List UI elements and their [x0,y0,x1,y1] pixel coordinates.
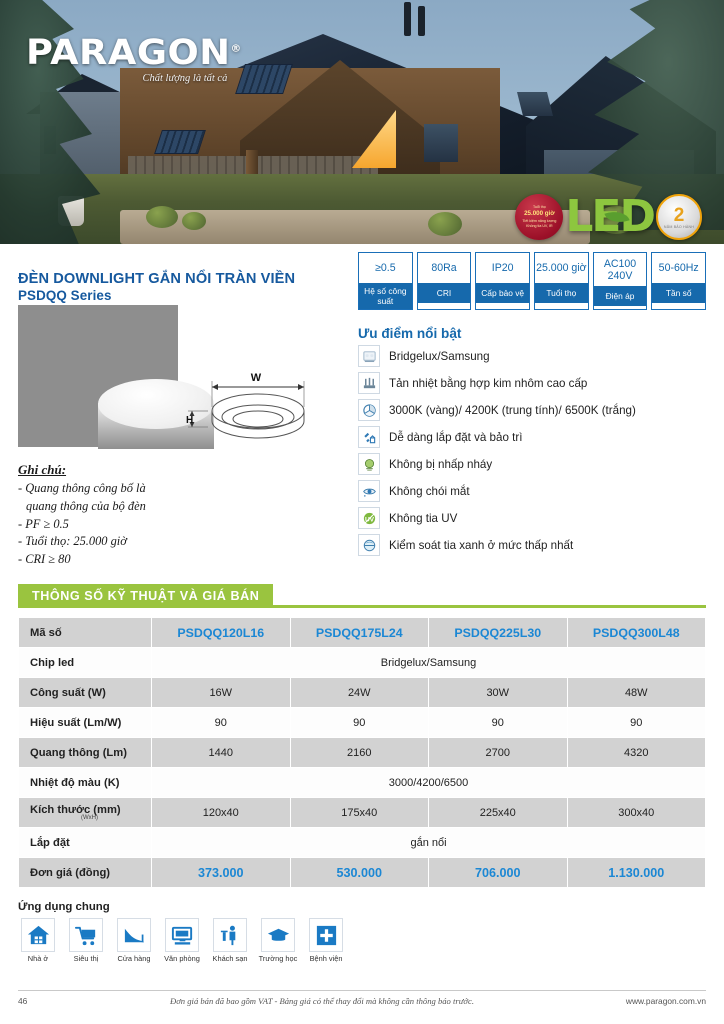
product-right-column: ≥0.5 Hệ số công suất 80Ra CRI IP20 Cấp b… [350,252,706,568]
svg-text:W: W [251,372,262,384]
lifetime-badge-value: 25.000 giờ [518,210,560,218]
chimney-a [404,2,411,36]
brand-name-text: PARAGON [26,33,231,73]
lifetime-badge-line4: Không tia UV, IR [518,224,560,229]
cell-value: 90 [567,708,706,738]
no-flicker-icon [358,453,380,475]
cell-value: 2160 [290,738,429,768]
registered-mark: ® [231,43,242,54]
table-row-power: Công suất (W) 16W 24W 30W 48W [19,678,706,708]
row-label: Kích thước (mm) (WxH) [19,798,152,828]
row-label: Quang thông (Lm) [19,738,152,768]
row-label: Đơn giá (đồng) [19,858,152,888]
cell-value: 530.000 [290,858,429,888]
table-row-chip-led: Chip led Bridgelux/Samsung [19,648,706,678]
svg-text:H: H [186,415,193,426]
spec-badge-cri: 80Ra CRI [417,252,472,310]
bush-3 [428,212,462,236]
upper-dark-window [424,124,458,162]
solar-panel-right [235,64,293,94]
application-hotel: Khách sạn [210,918,250,963]
spec-badge-ip-rating: IP20 Cấp bảo vệ [475,252,530,310]
footer-website: www.paragon.com.vn [586,996,706,1006]
tech-spec-section-header: THÔNG SỐ KỸ THUẬT VÀ GIÁ BÁN [18,584,706,608]
solar-panel-left [154,130,206,154]
cell-value: 2700 [429,738,568,768]
page-content: ĐÈN DOWNLIGHT GẮN NỔI TRÀN VIỀN PSDQQ Se… [0,252,724,963]
table-row-installation: Lắp đặt gắn nổi [19,828,706,858]
application-label: Bệnh viện [306,954,346,963]
applications-row: Nhà ở Siêu thị Cửa hàng Văn phòng [18,918,706,963]
row-label: Công suất (W) [19,678,152,708]
note-line-4: - CRI ≥ 80 [18,552,71,566]
dormer-window [517,92,553,116]
application-label: Cửa hàng [114,954,154,963]
spec-badge-lifetime: 25.000 giờ Tuổi thọ [534,252,589,310]
led-chip-icon [358,345,380,367]
application-supermarket: Siêu thị [66,918,106,963]
cell-value: 90 [429,708,568,738]
cell-value: PSDQQ300L48 [567,618,706,648]
hero-banner: PARAGON® Chất lượng là tất cả Tuổi thọ 2… [0,0,724,244]
feature-item-easy-install: Dễ dàng lắp đặt và bảo trì [358,426,706,448]
row-label: Hiệu suất (Lm/W) [19,708,152,738]
feature-item-no-glare: Không chói mắt [358,480,706,502]
feature-item-blue-light: Kiểm soát tia xanh ở mức thấp nhất [358,534,706,556]
spec-label: Tuổi thọ [535,283,588,303]
feature-text: Tản nhiệt bằng hợp kim nhôm cao cấp [389,377,587,390]
table-row-model-code: Mã số PSDQQ120L16 PSDQQ175L24 PSDQQ225L3… [19,618,706,648]
lifetime-badge-line1: Tuổi thọ [518,205,560,210]
spec-badge-voltage: AC100 240V Điện áp [593,252,648,310]
row-label: Lắp đặt [19,828,152,858]
application-label: Văn phòng [162,954,202,963]
bush-1 [146,206,178,228]
page-number: 46 [18,996,58,1006]
hotel-bellboy-icon [213,918,247,952]
spec-label: Hệ số công suất [359,283,412,309]
application-label: Trường học [258,954,298,963]
cell-value: 24W [290,678,429,708]
spec-value: 25.000 giờ [535,253,588,283]
feature-item-no-uv: UV Không tia UV [358,507,706,529]
lifetime-badge: Tuổi thọ 25.000 giờ Tiết kiệm năng lượng… [515,194,563,240]
cell-value: 175x40 [290,798,429,828]
feature-item-chip: Bridgelux/Samsung [358,345,706,367]
cell-value: PSDQQ120L16 [152,618,291,648]
spec-badge-frequency: 50-60Hz Tần số [651,252,706,310]
note-line-2: - PF ≥ 0.5 [18,517,69,531]
note-line-1: quang thông của bộ đèn [18,498,350,516]
no-glare-eye-icon [358,480,380,502]
chimney-b [418,6,425,36]
feature-item-no-flicker: Không bị nhấp nháy [358,453,706,475]
spec-value: ≥0.5 [359,253,412,283]
cell-value: 90 [290,708,429,738]
cell-value: 4320 [567,738,706,768]
no-uv-icon: UV [358,507,380,529]
spec-value: 80Ra [418,253,471,283]
feature-text: Kiểm soát tia xanh ở mức thấp nhất [389,539,573,552]
features-title: Ưu điểm nổi bật [358,326,706,341]
row-label-text: Kích thước (mm) [30,804,121,816]
application-label: Nhà ở [18,954,58,963]
table-row-color-temperature: Nhiệt độ màu (K) 3000/4200/6500 [19,768,706,798]
spec-badge-power-factor: ≥0.5 Hệ số công suất [358,252,413,310]
table-row-luminous-flux: Quang thông (Lm) 1440 2160 2700 4320 [19,738,706,768]
cell-value: 30W [429,678,568,708]
shopping-cart-icon [69,918,103,952]
cell-value: 1440 [152,738,291,768]
spec-label: Tần số [652,283,705,303]
notes-block: Ghi chú: - Quang thông công bố là quang … [18,461,350,569]
application-school: Trường học [258,918,298,963]
led-wordmark: LED [565,197,654,237]
dimension-diagram: W H [186,355,336,447]
application-label: Khách sạn [210,954,250,963]
application-residential: Nhà ở [18,918,58,963]
feature-text: Không bị nhấp nháy [389,458,492,471]
feature-item-color-temp: 3000K (vàng)/ 4200K (trung tính)/ 6500K … [358,399,706,421]
cell-value: 225x40 [429,798,568,828]
table-row-unit-price: Đơn giá (đồng) 373.000 530.000 706.000 1… [19,858,706,888]
blue-light-control-icon [358,534,380,556]
house-icon [21,918,55,952]
row-label: Nhiệt độ màu (K) [19,768,152,798]
datasheet-page: PARAGON® Chất lượng là tất cả Tuổi thọ 2… [0,0,724,1024]
product-images: W H [18,305,350,447]
feature-text: Bridgelux/Samsung [389,350,490,363]
cell-value: PSDQQ175L24 [290,618,429,648]
cell-value: gắn nổi [152,828,706,858]
cell-value: PSDQQ225L30 [429,618,568,648]
page-title: ĐÈN DOWNLIGHT GẮN NỔI TRÀN VIỀN PSDQQ Se… [18,270,350,305]
footer-disclaimer: Đơn giá bán đã bao gồm VAT - Bảng giá có… [58,996,586,1006]
cell-value: 90 [152,708,291,738]
spec-label: CRI [418,283,471,303]
brand-tagline: Chất lượng là tất cả [26,73,231,84]
spec-label: Cấp bảo vệ [476,283,529,303]
cell-value: 300x40 [567,798,706,828]
cell-value: 3000/4200/6500 [152,768,706,798]
product-series: PSDQQ Series [18,288,350,305]
brand-logo: PARAGON® Chất lượng là tất cả [26,36,231,84]
application-label: Siêu thị [66,954,106,963]
medical-cross-icon [309,918,343,952]
row-label: Mã số [19,618,152,648]
note-line-3: - Tuổi thọ: 25.000 giờ [18,534,127,548]
table-row-dimensions: Kích thước (mm) (WxH) 120x40 175x40 225x… [19,798,706,828]
hero-badges: Tuổi thọ 25.000 giờ Tiết kiệm năng lượng… [515,194,702,240]
page-footer: 46 Đơn giá bán đã bao gồm VAT - Bảng giá… [18,990,706,1010]
graduation-cap-icon [261,918,295,952]
high-heel-shoe-icon [117,918,151,952]
product-overview: ĐÈN DOWNLIGHT GẮN NỔI TRÀN VIỀN PSDQQ Se… [18,252,706,568]
specifications-table: Mã số PSDQQ120L16 PSDQQ175L24 PSDQQ225L3… [18,617,706,888]
feature-text: 3000K (vàng)/ 4200K (trung tính)/ 6500K … [389,404,636,417]
easy-install-icon [358,426,380,448]
cell-value: 706.000 [429,858,568,888]
product-title: ĐÈN DOWNLIGHT GẮN NỔI TRÀN VIỀN [18,270,350,288]
cell-value: 373.000 [152,858,291,888]
spec-value: AC100 240V [594,253,647,286]
product-left-column: ĐÈN DOWNLIGHT GẮN NỔI TRÀN VIỀN PSDQQ Se… [18,252,350,568]
dimension-drawing-icon: W H [186,355,336,447]
spec-value: 50-60Hz [652,253,705,283]
feature-text: Không tia UV [389,512,457,525]
feature-text: Không chói mắt [389,485,470,498]
feature-text: Dễ dàng lắp đặt và bảo trì [389,431,522,444]
spec-badge-row: ≥0.5 Hệ số công suất 80Ra CRI IP20 Cấp b… [358,252,706,310]
warranty-badge: 2 NĂM BẢO HÀNH [656,194,702,240]
section-title: THÔNG SỐ KỸ THUẬT VÀ GIÁ BÁN [18,584,273,608]
cell-value: 1.130.000 [567,858,706,888]
applications-title: Ứng dụng chung [18,901,706,913]
note-line-0: - Quang thông công bố là [18,481,146,495]
feature-item-heatsink: Tản nhiệt bằng hợp kim nhôm cao cấp [358,372,706,394]
spec-value: IP20 [476,253,529,283]
warranty-label: NĂM BẢO HÀNH [664,225,694,229]
heatsink-icon [358,372,380,394]
spec-label: Điện áp [594,286,647,306]
row-label: Chip led [19,648,152,678]
cell-value: 120x40 [152,798,291,828]
bush-2 [182,212,206,230]
warranty-years: 2 [674,206,685,225]
brand-name: PARAGON® [26,36,242,71]
product-photo [18,305,178,447]
cell-value: Bridgelux/Samsung [152,648,706,678]
application-office: Văn phòng [162,918,202,963]
application-retail-store: Cửa hàng [114,918,154,963]
cell-value: 16W [152,678,291,708]
notes-heading: Ghi chú: [18,461,350,479]
desktop-monitor-icon [165,918,199,952]
application-hospital: Bệnh viện [306,918,346,963]
color-temp-icon [358,399,380,421]
cell-value: 48W [567,678,706,708]
table-row-efficacy: Hiệu suất (Lm/W) 90 90 90 90 [19,708,706,738]
